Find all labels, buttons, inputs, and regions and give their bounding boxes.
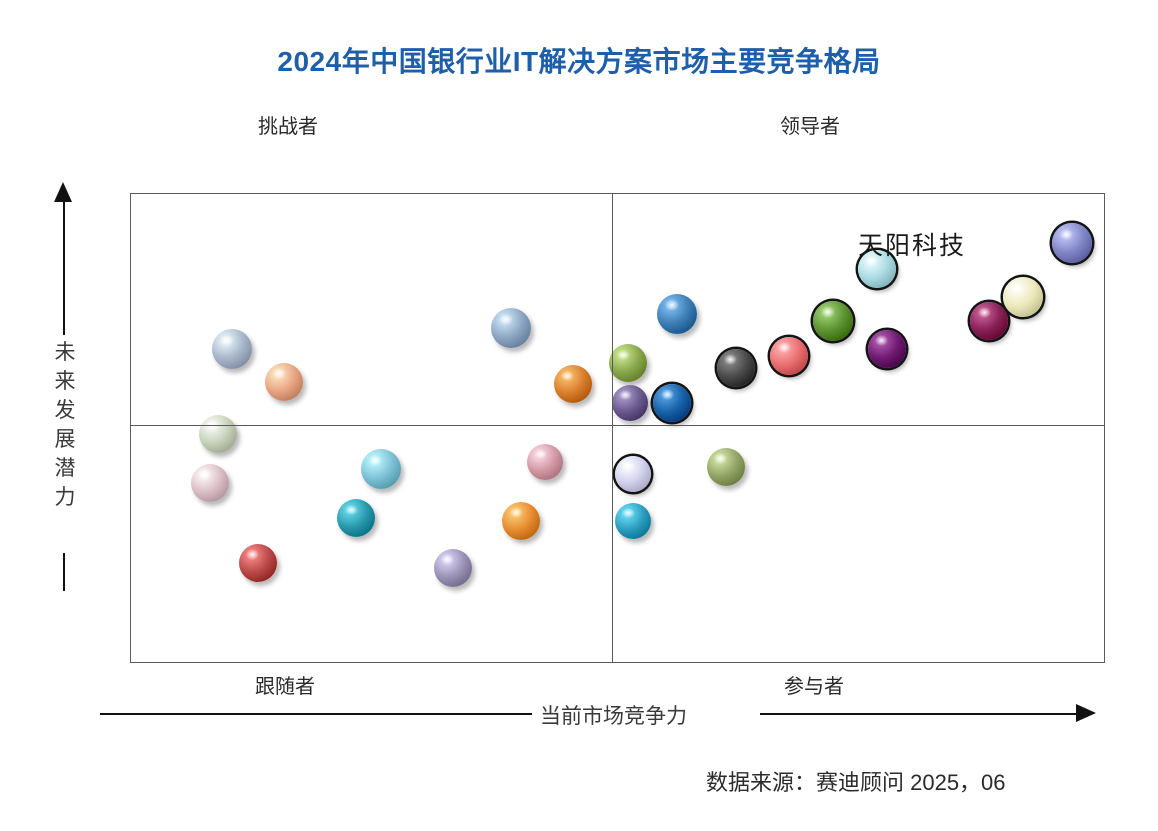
bubble-p13[interactable] bbox=[609, 344, 647, 382]
bubble-p12[interactable] bbox=[502, 502, 540, 540]
x-axis-line-left bbox=[100, 713, 532, 715]
bubble-p27[interactable] bbox=[707, 448, 745, 486]
quadrant-label-challengers: 挑战者 bbox=[258, 110, 318, 139]
bubble-p17[interactable] bbox=[717, 349, 755, 387]
bubble-p15[interactable] bbox=[653, 384, 691, 422]
y-axis-label-char: 潜 bbox=[52, 454, 78, 483]
quadrant-divider-vertical bbox=[612, 193, 613, 663]
source-note: 数据来源：赛迪顾问 2025，06 bbox=[706, 765, 1006, 797]
quadrant-label-leaders: 领导者 bbox=[780, 110, 840, 139]
quadrant-plot-area bbox=[130, 193, 1105, 663]
quadrant-label-followers: 跟随者 bbox=[255, 670, 315, 699]
bubble-p24[interactable] bbox=[1052, 223, 1092, 263]
page-title: 2024年中国银行业IT解决方案市场主要竞争格局 bbox=[0, 40, 1158, 80]
bubble-p03[interactable] bbox=[491, 308, 531, 348]
x-axis-label: 当前市场竞争力 bbox=[540, 700, 687, 730]
bubble-p08[interactable] bbox=[337, 499, 375, 537]
bubble-p10[interactable] bbox=[434, 549, 472, 587]
bubble-p07[interactable] bbox=[361, 449, 401, 489]
bubble-p19[interactable] bbox=[813, 301, 853, 341]
bubble-p18[interactable] bbox=[770, 337, 808, 375]
bubble-p01[interactable] bbox=[212, 329, 252, 369]
bubble-p04[interactable] bbox=[554, 365, 592, 403]
bubble-p25[interactable] bbox=[615, 456, 651, 492]
bubble-p21[interactable] bbox=[868, 330, 906, 368]
y-axis-label-char: 展 bbox=[52, 425, 78, 454]
bubble-p09[interactable] bbox=[239, 544, 277, 582]
y-axis-arrow-icon bbox=[54, 182, 72, 202]
bubble-p22[interactable] bbox=[970, 302, 1008, 340]
y-axis-line-upper bbox=[63, 200, 65, 335]
bubble-p26[interactable] bbox=[615, 503, 651, 539]
bubble-p11[interactable] bbox=[527, 444, 563, 480]
bubble-p06[interactable] bbox=[191, 464, 229, 502]
y-axis-label-char: 力 bbox=[52, 483, 78, 512]
bubble-p23[interactable] bbox=[1003, 277, 1043, 317]
quadrant-label-participants: 参与者 bbox=[784, 670, 844, 699]
y-axis-label-char: 来 bbox=[52, 367, 78, 396]
x-axis-arrow-icon bbox=[1076, 704, 1096, 722]
y-axis-label-char: 发 bbox=[52, 396, 78, 425]
y-axis-label: 未来发展潜力 bbox=[52, 338, 78, 512]
bubble-p16[interactable] bbox=[657, 294, 697, 334]
bubble-p05[interactable] bbox=[199, 415, 237, 453]
y-axis-label-char: 未 bbox=[52, 338, 78, 367]
y-axis-line-lower bbox=[63, 553, 65, 591]
quadrant-divider-horizontal bbox=[130, 425, 1105, 426]
x-axis-line-right bbox=[760, 713, 1078, 715]
annotation-tianyang-keji: 天阳科技 bbox=[858, 226, 966, 262]
bubble-p02[interactable] bbox=[265, 363, 303, 401]
bubble-p14[interactable] bbox=[612, 385, 648, 421]
